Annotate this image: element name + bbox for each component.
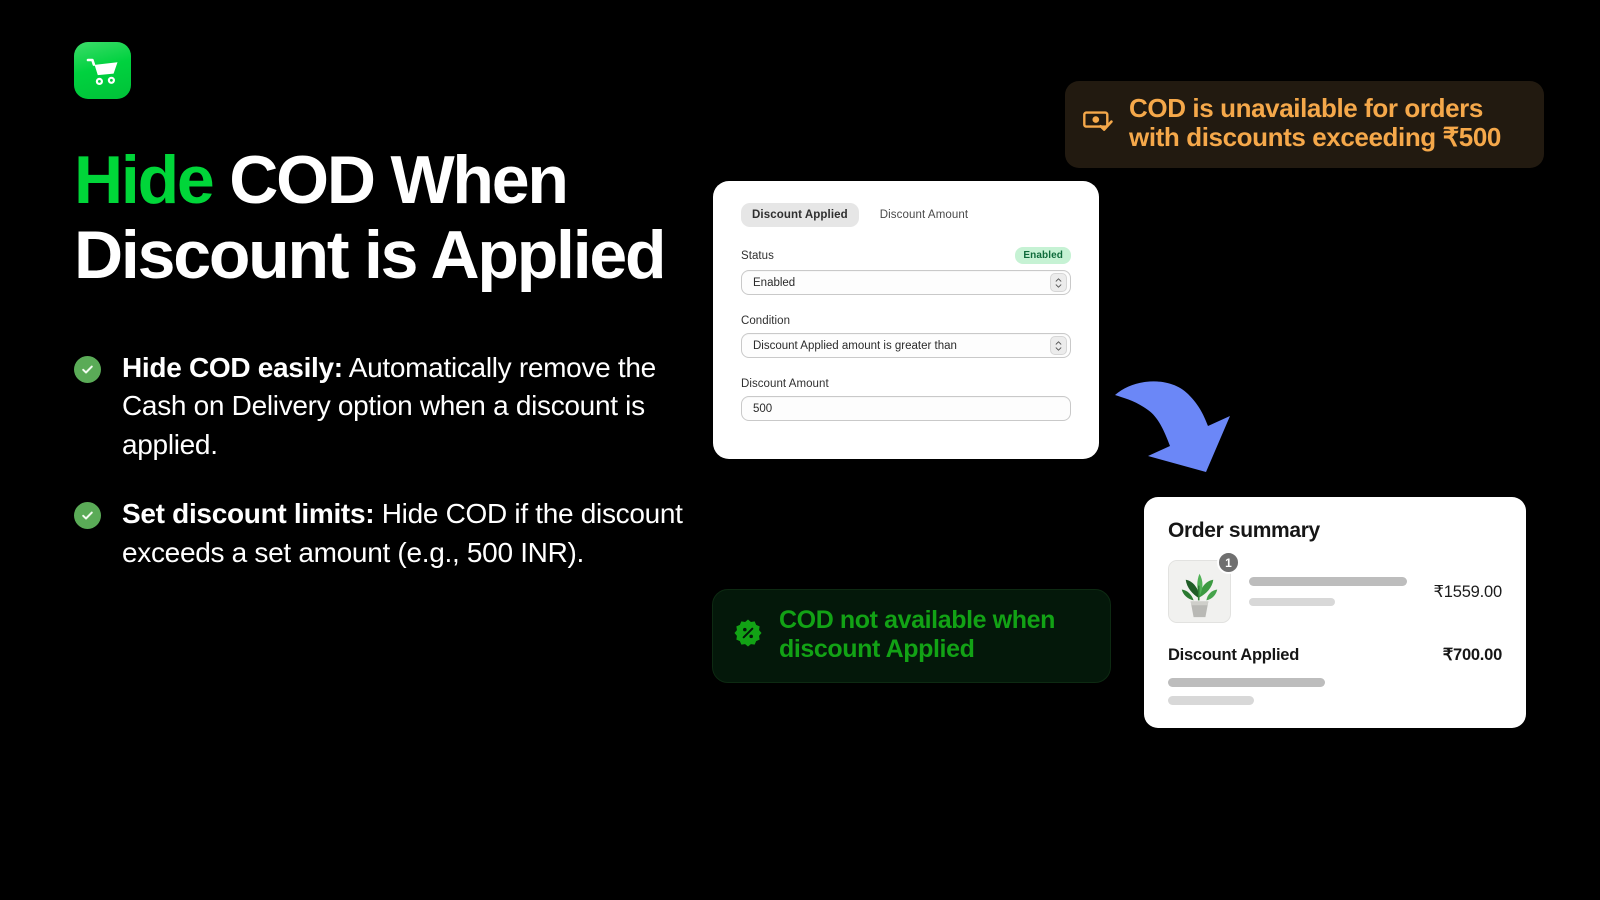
order-summary-title: Order summary — [1168, 519, 1502, 543]
headline-accent-word: Hide — [74, 142, 213, 218]
list-item: Set discount limits: Hide COD if the dis… — [74, 495, 684, 572]
order-discount-row: Discount Applied ₹700.00 — [1168, 645, 1502, 665]
order-discount-label: Discount Applied — [1168, 646, 1299, 665]
order-summary-card: Order summary 1 ₹1 — [1144, 497, 1526, 728]
status-field-header: Status Enabled — [741, 247, 1071, 264]
check-circle-icon — [74, 502, 101, 529]
status-select-value: Enabled — [753, 277, 795, 289]
toast-line-1: COD is unavailable for orders — [1129, 94, 1501, 123]
check-circle-icon — [74, 356, 101, 383]
toast-line-2: with discounts exceeding ₹500 — [1129, 123, 1501, 152]
condition-select[interactable]: Discount Applied amount is greater than — [741, 333, 1071, 358]
list-item-bold: Set discount limits: — [122, 498, 374, 529]
skeleton-line-total — [1168, 678, 1325, 687]
skeleton-line-title — [1249, 577, 1407, 586]
status-label: Status — [741, 250, 774, 262]
condition-label: Condition — [741, 315, 1071, 327]
feature-bullet-list: Hide COD easily: Automatically remove th… — [74, 349, 684, 573]
order-item-thumbnail-wrapper: 1 — [1168, 560, 1231, 623]
discount-amount-label: Discount Amount — [741, 378, 1071, 390]
list-item: Hide COD easily: Automatically remove th… — [74, 349, 684, 465]
page-title: Hide COD When Discount is Applied — [74, 143, 714, 293]
discount-amount-input[interactable]: 500 — [741, 396, 1071, 421]
settings-tabs: Discount Applied Discount Amount — [741, 203, 1071, 227]
curved-arrow-icon — [1112, 372, 1234, 477]
discount-settings-card: Discount Applied Discount Amount Status … — [713, 181, 1099, 459]
tab-discount-applied[interactable]: Discount Applied — [741, 203, 859, 227]
list-item-text: Hide COD easily: Automatically remove th… — [122, 349, 684, 465]
status-select[interactable]: Enabled — [741, 270, 1071, 295]
cod-unavailable-toast-text: COD is unavailable for orders with disco… — [1129, 94, 1501, 153]
chevron-updown-icon[interactable] — [1050, 273, 1067, 292]
tab-discount-amount[interactable]: Discount Amount — [869, 203, 979, 227]
chevron-updown-icon[interactable] — [1050, 336, 1067, 355]
order-line-item: 1 ₹1559.00 — [1168, 560, 1502, 623]
discount-amount-value: 500 — [753, 403, 772, 415]
cod-unavailable-toast: COD is unavailable for orders with disco… — [1065, 81, 1544, 168]
toast-line-1: COD not available when — [779, 606, 1055, 635]
cod-not-available-toast: COD not available when discount Applied — [712, 589, 1111, 683]
hero-left-column: Hide COD When Discount is Applied Hide C… — [74, 42, 714, 604]
item-quantity-badge: 1 — [1217, 551, 1240, 574]
list-item-text: Set discount limits: Hide COD if the dis… — [122, 495, 684, 572]
percent-badge-icon — [733, 618, 763, 653]
status-badge: Enabled — [1015, 247, 1071, 264]
order-item-placeholder-lines — [1249, 577, 1419, 606]
cod-not-available-toast-text: COD not available when discount Applied — [779, 606, 1055, 664]
cash-check-icon — [1083, 108, 1113, 139]
order-item-price: ₹1559.00 — [1433, 582, 1502, 602]
condition-select-value: Discount Applied amount is greater than — [753, 340, 957, 352]
skeleton-line-subtotal — [1168, 696, 1254, 705]
skeleton-line-variant — [1249, 598, 1335, 606]
order-discount-value: ₹700.00 — [1443, 645, 1502, 665]
shopping-cart-icon — [74, 42, 131, 99]
list-item-bold: Hide COD easily: — [122, 352, 343, 383]
toast-line-2: discount Applied — [779, 635, 1055, 664]
